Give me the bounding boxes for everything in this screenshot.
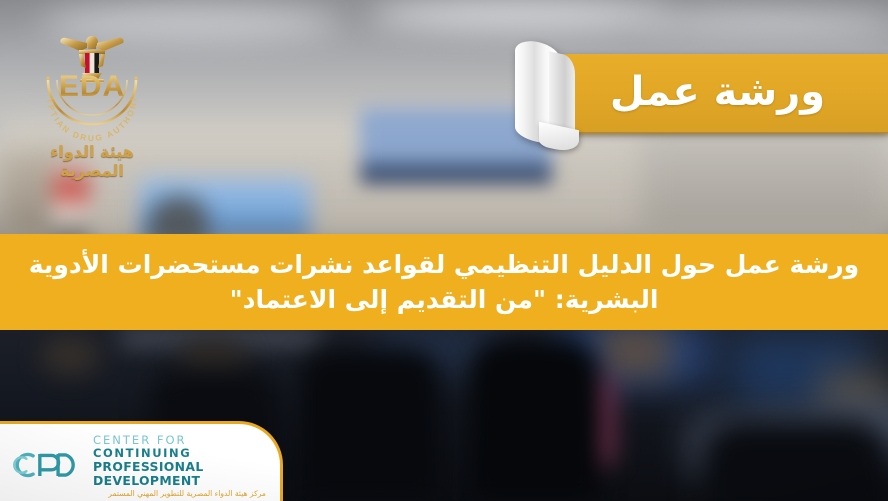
title-line-2: البشرية: "من التقديم إلى الاعتماد": [230, 282, 659, 318]
paper-curl: [509, 42, 581, 150]
right-wall: [640, 120, 888, 240]
ceiling-light-right: [640, 10, 888, 36]
cpd-badge: CENTER FOR CONTINUING PROFESSIONAL DEVEL…: [0, 421, 283, 501]
logo-monogram: EDA: [59, 70, 125, 103]
cpd-name-bold: CONTINUING: [93, 446, 191, 460]
warm-blur-center: [600, 330, 670, 376]
cpd-arabic-name: مركز هيئة الدواء المصرية للتطوير المهني …: [93, 489, 266, 498]
chair-center-left: [300, 350, 440, 500]
ceiling-light-center: [370, 0, 670, 30]
title-line-1: ورشة عمل حول الدليل التنظيمي لقواعد نشرا…: [29, 247, 859, 283]
cpd-name-line2: PROFESSIONAL DEVELOPMENT: [93, 460, 266, 488]
ribbon-label: ورشة عمل: [547, 54, 888, 133]
chair-right: [700, 420, 888, 501]
eda-arabic-name: هيئة الدواء المصرية: [31, 142, 153, 180]
attendee-head-left: [40, 336, 100, 376]
workshop-ribbon: ورشة عمل: [509, 54, 888, 138]
title-band: ورشة عمل حول الدليل التنظيمي لقواعد نشرا…: [0, 234, 888, 330]
eda-logo-mark: EGYPTIAN DRUG AUTHORITY EDA: [31, 22, 153, 148]
eda-logo: EGYPTIAN DRUG AUTHORITY EDA هيئة الدواء …: [31, 22, 153, 172]
chair-center-right: [470, 340, 600, 500]
cpd-logo-mark: [12, 448, 84, 482]
event-poster: EGYPTIAN DRUG AUTHORITY EDA هيئة الدواء …: [0, 0, 888, 501]
